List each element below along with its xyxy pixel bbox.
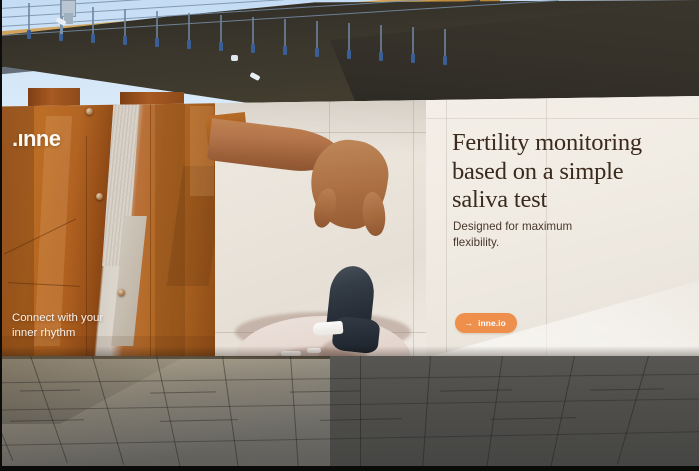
jacket-button xyxy=(86,108,93,115)
poster-light-wash xyxy=(426,237,699,358)
subheadline-line-2: flexibility. xyxy=(453,235,633,251)
subheadline-line-1: Designed for maximum xyxy=(453,219,633,235)
cta-button-inne-io[interactable]: → inne.io xyxy=(455,313,517,333)
jacket-button xyxy=(118,289,125,296)
headline-line-1: Fertility monitoring xyxy=(452,129,682,158)
inne-logo: .ınne xyxy=(12,126,60,152)
tagline: Connect with your inner rhythm xyxy=(12,311,132,341)
jacket-button xyxy=(96,193,103,200)
pavement xyxy=(0,356,699,471)
tagline-line-1: Connect with your xyxy=(12,311,132,326)
product-test-strip xyxy=(312,321,343,337)
subheadline: Designed for maximum flexibility. xyxy=(453,219,633,252)
tagline-line-2: inner rhythm xyxy=(12,326,132,341)
headline-line-2: based on a simple xyxy=(452,158,682,187)
headline-line-3: saliva test xyxy=(452,186,682,215)
arrow-right-icon: → xyxy=(464,319,473,328)
billboard-scene-photo: .ınne Connect with your inner rhythm Fer… xyxy=(0,0,699,471)
poster-middle-product xyxy=(215,96,426,358)
photo-left-edge xyxy=(0,0,2,471)
camera-icon-2 xyxy=(231,55,238,61)
photo-bottom-edge xyxy=(0,466,699,471)
cta-label: inne.io xyxy=(478,318,506,328)
headline: Fertility monitoring based on a simple s… xyxy=(452,129,682,215)
